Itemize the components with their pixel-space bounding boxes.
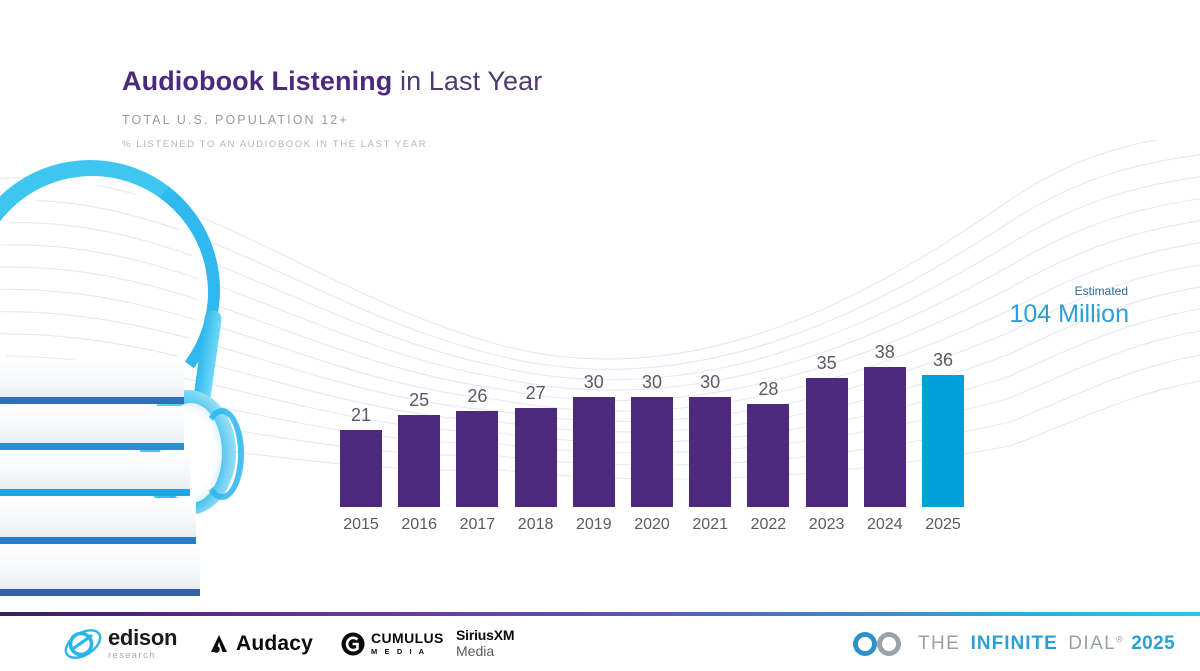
logo-edison-research: edison research: [62, 616, 177, 671]
brand-word-infinite: INFINITE: [971, 633, 1058, 654]
bar-rect: [456, 411, 498, 507]
brand-word-dial: DIAL: [1068, 633, 1116, 654]
siriusxm-subword: Media: [456, 644, 514, 660]
bar-2023: 352023: [806, 378, 848, 507]
bar-rect: [515, 408, 557, 507]
subtitle: TOTAL U.S. POPULATION 12+: [122, 113, 349, 127]
bar-year-label: 2023: [809, 516, 845, 534]
bar-value-label: 21: [351, 405, 371, 426]
bar-2016: 252016: [398, 415, 440, 507]
bar-year-label: 2022: [751, 516, 787, 534]
bar-year-label: 2018: [518, 516, 554, 534]
bar-value-label: 30: [584, 372, 604, 393]
bar-rect: [631, 397, 673, 507]
book-stack-item: [0, 406, 184, 450]
logo-infinite-dial: THE INFINITE DIAL® 2025: [850, 616, 1175, 671]
infinite-dial-mark-icon: [850, 630, 910, 658]
bar-value-label: 28: [758, 379, 778, 400]
logo-siriusxm-media: SiriusXM Media: [456, 616, 514, 671]
edison-wordmark: edison: [108, 627, 177, 649]
bar-year-label: 2021: [692, 516, 728, 534]
footer: edison research Audacy CUMULUS M E D I A: [0, 616, 1200, 671]
brand-reg-icon: ®: [1116, 634, 1123, 644]
page-title: Audiobook Listening in Last Year: [122, 66, 542, 97]
bar-2017: 262017: [456, 411, 498, 507]
bar-2021: 302021: [689, 397, 731, 507]
bar-rect: [806, 378, 848, 507]
page-title-rest: in Last Year: [392, 66, 542, 96]
bar-rect: [747, 404, 789, 507]
bar-value-label: 35: [817, 353, 837, 374]
estimated-value: 104 Million: [1009, 300, 1129, 329]
bar-year-label: 2020: [634, 516, 670, 534]
headphones-books-photo: [0, 160, 284, 600]
bar-rect: [340, 430, 382, 507]
siriusxm-wordmark: SiriusXM: [456, 628, 514, 644]
cumulus-c-icon: [340, 631, 366, 657]
bar-value-label: 38: [875, 342, 895, 363]
logo-cumulus-media: CUMULUS M E D I A: [340, 616, 444, 671]
bar-value-label: 25: [409, 390, 429, 411]
slide-root: Audiobook Listening in Last Year TOTAL U…: [0, 0, 1200, 671]
bar-rect: [573, 397, 615, 507]
bar-rect: [689, 397, 731, 507]
bar-year-label: 2019: [576, 516, 612, 534]
headphone-earcup-rim: [200, 408, 244, 500]
bar-2024: 382024: [864, 367, 906, 507]
book-stack-item: [0, 546, 200, 596]
audacy-wordmark: Audacy: [236, 632, 313, 656]
bar-year-label: 2015: [343, 516, 379, 534]
bar-year-label: 2024: [867, 516, 903, 534]
bar-2025: 362025: [922, 375, 964, 507]
page-title-bold: Audiobook Listening: [122, 66, 392, 96]
book-stack-item: [0, 360, 184, 404]
bar-rect: [398, 415, 440, 507]
bar-2015: 212015: [340, 430, 382, 507]
bar-year-label: 2016: [401, 516, 437, 534]
bar-2018: 272018: [515, 408, 557, 507]
bar-year-label: 2025: [925, 516, 961, 534]
bar-year-label: 2017: [460, 516, 496, 534]
brand-word-the: THE: [918, 633, 960, 654]
bar-2019: 302019: [573, 397, 615, 507]
bar-value-label: 36: [933, 350, 953, 371]
book-stack-item: [0, 498, 196, 544]
bar-rect: [922, 375, 964, 507]
bar-rect: [864, 367, 906, 507]
bar-value-label: 30: [700, 372, 720, 393]
bar-value-label: 27: [526, 383, 546, 404]
edison-orbit-icon: [62, 626, 106, 662]
book-stack-item: [0, 452, 190, 496]
brand-year: 2025: [1131, 633, 1175, 654]
estimated-label: Estimated: [1075, 284, 1128, 298]
logo-audacy: Audacy: [206, 616, 313, 671]
bar-value-label: 26: [467, 386, 487, 407]
bar-value-label: 30: [642, 372, 662, 393]
audacy-mark-icon: [206, 631, 232, 657]
subtitle-note: % LISTENED TO AN AUDIOBOOK IN THE LAST Y…: [122, 139, 427, 150]
bar-2020: 302020: [631, 397, 673, 507]
cumulus-subword: M E D I A: [371, 648, 444, 656]
cumulus-wordmark: CUMULUS: [371, 631, 444, 645]
edison-subword: research: [108, 651, 177, 660]
bar-2022: 282022: [747, 404, 789, 507]
